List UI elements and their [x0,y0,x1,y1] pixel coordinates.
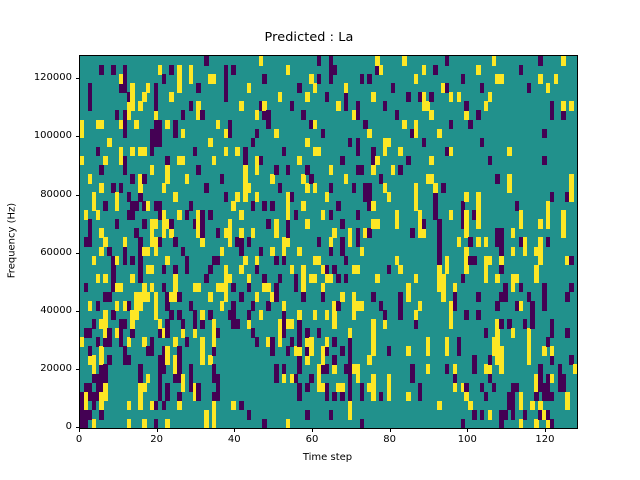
heatmap-cell [228,120,232,130]
heatmap-cell [286,346,290,356]
y-tick-label: 20000 [0,363,72,375]
heatmap-cell [367,129,371,139]
heatmap-cell [270,201,274,211]
heatmap-cell [239,237,243,247]
heatmap-cell [154,83,158,93]
heatmap-cell [313,120,317,130]
heatmap-cell [154,247,158,257]
heatmap-cell [196,392,200,402]
heatmap-cell [356,210,360,220]
heatmap-cell [379,65,383,75]
heatmap-cell [336,301,340,311]
heatmap-cell [88,174,92,184]
heatmap-cell [165,156,169,166]
heatmap-cell [224,65,228,75]
heatmap-cell [103,374,107,384]
heatmap-cell [313,183,317,193]
heatmap-cell [488,156,492,166]
heatmap-cell [297,310,301,320]
heatmap-cell [259,56,263,66]
y-tick-mark [76,195,80,196]
x-tick-label: 20 [127,434,187,445]
heatmap-cell [534,274,538,284]
heatmap-cell [503,292,507,302]
heatmap-cell [360,392,364,402]
heatmap-cell [92,256,96,266]
heatmap-cell [437,247,441,257]
heatmap-cell [464,192,468,202]
heatmap-cell [457,92,461,102]
heatmap-cell [127,401,131,411]
heatmap-cell [453,383,457,393]
heatmap-cell [107,337,111,347]
heatmap-cell [301,274,305,284]
heatmap-cell [371,92,375,102]
heatmap-cell [499,74,503,84]
heatmap-cell [243,256,247,266]
heatmap-cell [476,201,480,211]
heatmap-cell [499,256,503,266]
heatmap-cell [130,210,134,220]
heatmap-cell [177,401,181,411]
heatmap-cell [80,337,84,347]
heatmap-cell [414,129,418,139]
heatmap-cell [294,210,298,220]
heatmap-cell [449,92,453,102]
heatmap-cell [247,283,251,293]
heatmap-cell [573,364,577,374]
heatmap-cell [99,346,103,356]
heatmap-cell [472,410,476,420]
heatmap-cell [231,301,235,311]
heatmap-cell [336,274,340,284]
heatmap-cell [84,283,88,293]
heatmap-cell [130,174,134,184]
heatmap-cell [449,120,453,130]
heatmap-cell [360,247,364,257]
heatmap-cell [542,283,546,293]
heatmap-cell [158,120,162,130]
heatmap-cell [317,74,321,84]
heatmap-cell [329,237,333,247]
heatmap-cell [189,201,193,211]
heatmap-cell [185,256,189,266]
heatmap-cell [150,265,154,275]
heatmap-cell [255,265,259,275]
heatmap-cell [220,247,224,257]
heatmap-cell [499,346,503,356]
heatmap-cell [247,237,251,247]
heatmap-cell [282,247,286,257]
heatmap-cell [251,301,255,311]
heatmap-cell [492,383,496,393]
heatmap-cell [569,101,573,111]
heatmap-cell [511,247,515,257]
y-tick-mark [76,427,80,428]
heatmap-cell [383,319,387,329]
heatmap-cell [200,210,204,220]
heatmap-cell [406,292,410,302]
heatmap-cell [189,65,193,75]
heatmap-cell [398,265,402,275]
heatmap-cell [193,328,197,338]
heatmap-cell [476,310,480,320]
heatmap-cell [301,201,305,211]
heatmap-cell [193,310,197,320]
heatmap-cell [115,301,119,311]
heatmap-cell [332,65,336,75]
heatmap-cell [173,237,177,247]
heatmap-cell [550,328,554,338]
x-tick-label: 100 [437,434,497,445]
heatmap-cell [433,183,437,193]
heatmap-cell [527,355,531,365]
heatmap-cell [181,319,185,329]
heatmap-cell [231,283,235,293]
heatmap-cell [472,364,476,374]
heatmap-cell [422,219,426,229]
heatmap-cell [445,346,449,356]
heatmap-cell [554,74,558,84]
heatmap-cell [115,201,119,211]
heatmap-cell [507,147,511,157]
heatmap-cell [387,392,391,402]
heatmap-cell [538,56,542,66]
heatmap-cell [177,392,181,402]
heatmap-cell [538,74,542,84]
heatmap-cell [499,228,503,238]
heatmap-cell [371,346,375,356]
heatmap-cell [387,192,391,202]
heatmap-cell [527,328,531,338]
heatmap-cell [340,292,344,302]
heatmap-cell [445,265,449,275]
heatmap-cell [138,183,142,193]
heatmap-cell [150,337,154,347]
heatmap-cell [499,364,503,374]
heatmap-cell [216,374,220,384]
heatmap-cell [228,228,232,238]
heatmap-cell [387,265,391,275]
heatmap-cell [123,129,127,139]
heatmap-cell [340,219,344,229]
heatmap-cell [228,219,232,229]
heatmap-cell [344,101,348,111]
heatmap-cell [321,292,325,302]
heatmap-cell [274,165,278,175]
heatmap-cell [336,201,340,211]
heatmap-cell [503,410,507,420]
heatmap-cell [92,319,96,329]
heatmap-cell [371,392,375,402]
heatmap-cell [332,310,336,320]
heatmap-cell [398,301,402,311]
heatmap-cell [146,374,150,384]
heatmap-cell [165,256,169,266]
heatmap-cell [262,201,266,211]
heatmap-cell [154,292,158,302]
heatmap-cell [309,346,313,356]
heatmap-cell [162,74,166,84]
heatmap-cell-grid [80,56,577,428]
heatmap-cell [88,219,92,229]
heatmap-cell [142,147,146,157]
heatmap-cell [185,265,189,275]
y-tick-mark [76,78,80,79]
y-tick-mark [76,253,80,254]
heatmap-cell [224,292,228,302]
heatmap-cell [550,192,554,202]
heatmap-cell [216,383,220,393]
heatmap-cell [127,355,131,365]
heatmap-cell [243,147,247,157]
heatmap-cell [282,374,286,384]
heatmap-cell [255,256,259,266]
heatmap-cell [247,183,251,193]
heatmap-cell [464,101,468,111]
heatmap-cell [367,74,371,84]
heatmap-cell [317,56,321,66]
heatmap-cell [406,283,410,293]
heatmap-cell [325,346,329,356]
heatmap-cell [130,83,134,93]
heatmap-cell [387,138,391,148]
heatmap-cell [134,120,138,130]
heatmap-cell [165,165,169,175]
heatmap-cell [356,228,360,238]
heatmap-cell [495,301,499,311]
heatmap-cell [325,310,329,320]
heatmap-cell [360,419,364,429]
heatmap-cell [165,120,169,130]
heatmap-cell [239,101,243,111]
heatmap-cell [414,120,418,130]
heatmap-cell [519,210,523,220]
heatmap-cell [138,392,142,402]
heatmap-cell [519,419,523,429]
heatmap-cell [274,283,278,293]
heatmap-cell [154,219,158,229]
heatmap-cell [200,355,204,365]
heatmap-cell [115,256,119,266]
heatmap-cell [499,355,503,365]
heatmap-cell [550,101,554,111]
heatmap-cell [286,210,290,220]
heatmap-cell [395,219,399,229]
heatmap-cell [200,337,204,347]
heatmap-cell [154,301,158,311]
heatmap-cell [340,392,344,402]
heatmap-cell [196,165,200,175]
heatmap-cell [204,56,208,66]
heatmap-cell [274,256,278,266]
x-tick-label: 80 [360,434,420,445]
heatmap-cell [457,237,461,247]
heatmap-cell [185,210,189,220]
heatmap-cell [441,183,445,193]
heatmap-cell [266,120,270,130]
heatmap-cell [177,65,181,75]
heatmap-cell [511,228,515,238]
heatmap-cell [441,292,445,302]
heatmap-cell [476,292,480,302]
heatmap-cell [88,328,92,338]
heatmap-cell [212,337,216,347]
heatmap-cell [181,129,185,139]
heatmap-cell [96,147,100,157]
heatmap-cell [200,319,204,329]
heatmap-cell [441,283,445,293]
heatmap-cell [294,283,298,293]
heatmap-cell [247,83,251,93]
heatmap-cell [538,237,542,247]
heatmap-cell [519,301,523,311]
heatmap-cell [247,274,251,284]
heatmap-cell [278,274,282,284]
x-tick-mark [79,428,80,432]
heatmap-cell [317,147,321,157]
heatmap-cell [224,92,228,102]
heatmap-cell [80,120,84,130]
heatmap-cell [80,156,84,166]
heatmap-cell [317,328,321,338]
heatmap-cell [270,174,274,184]
heatmap-cell [212,156,216,166]
x-tick-label: 60 [282,434,342,445]
heatmap-cell [437,237,441,247]
heatmap-cell [286,419,290,429]
heatmap-cell [127,419,131,429]
heatmap-cell [414,74,418,84]
heatmap-cell [433,201,437,211]
heatmap-cell [181,110,185,120]
heatmap-cell [348,328,352,338]
heatmap-cell [220,301,224,311]
heatmap-cell [107,328,111,338]
heatmap-cell [208,265,212,275]
heatmap-cell [212,419,216,429]
heatmap-cell [387,374,391,384]
heatmap-cell [437,129,441,139]
heatmap-cell [519,219,523,229]
heatmap-cell [348,138,352,148]
heatmap-cell [123,156,127,166]
heatmap-cell [321,283,325,293]
heatmap-cell [527,337,531,347]
heatmap-cell [235,147,239,157]
heatmap-cell [371,165,375,175]
heatmap-cell [542,292,546,302]
heatmap-cell [208,138,212,148]
heatmap-cell [511,328,515,338]
heatmap-cell [569,283,573,293]
heatmap-cell [158,138,162,148]
heatmap-cell [429,156,433,166]
heatmap-cell [99,247,103,257]
heatmap-cell [224,147,228,157]
heatmap-cell [297,337,301,347]
heatmap-cell [99,65,103,75]
x-tick-mark [467,428,468,432]
heatmap-cell [134,201,138,211]
x-tick-mark [157,428,158,432]
heatmap-cell [266,301,270,311]
heatmap-cell [103,156,107,166]
heatmap-cell [99,120,103,130]
heatmap-cell [561,219,565,229]
heatmap-cell [127,110,131,120]
heatmap-cell [208,210,212,220]
heatmap-cell [561,56,565,66]
heatmap-cell [329,410,333,420]
heatmap-cell [550,319,554,329]
heatmap-cell [290,192,294,202]
x-tick-mark [312,428,313,432]
heatmap-cell [196,83,200,93]
heatmap-cell [464,210,468,220]
heatmap-cell [398,292,402,302]
heatmap-cell [154,101,158,111]
heatmap-cell [103,383,107,393]
heatmap-cell [488,364,492,374]
heatmap-cell [453,292,457,302]
heatmap-cell [511,283,515,293]
heatmap-cell [130,319,134,329]
heatmap-cell [503,283,507,293]
heatmap-cell [146,247,150,257]
heatmap-cell [255,292,259,302]
heatmap-cell [200,310,204,320]
heatmap-cell [158,129,162,139]
heatmap-cell [449,319,453,329]
heatmap-cell [325,92,329,102]
heatmap-cell [332,392,336,402]
heatmap-cell [130,274,134,284]
heatmap-cell [313,83,317,93]
heatmap-cell [200,228,204,238]
heatmap-cell [266,110,270,120]
heatmap-cell [468,120,472,130]
y-tick-label: 0 [0,421,72,433]
heatmap-cell [99,165,103,175]
heatmap-cell [123,74,127,84]
heatmap-cell [445,337,449,347]
heatmap-cell [127,337,131,347]
heatmap-cell [332,319,336,329]
heatmap-cell [348,337,352,347]
heatmap-cell [495,274,499,284]
heatmap-cell [453,374,457,384]
heatmap-axes [79,55,578,429]
heatmap-cell [297,247,301,257]
heatmap-cell [162,228,166,238]
heatmap-cell [196,283,200,293]
heatmap-cell [534,265,538,275]
heatmap-cell [138,101,142,111]
heatmap-cell [476,210,480,220]
heatmap-cell [84,419,88,429]
heatmap-cell [402,120,406,130]
heatmap-cell [569,183,573,193]
heatmap-cell [92,401,96,411]
heatmap-cell [123,247,127,257]
heatmap-cell [538,219,542,229]
heatmap-cell [251,138,255,148]
heatmap-cell [325,364,329,374]
heatmap-cell [305,219,309,229]
heatmap-cell [546,219,550,229]
heatmap-cell [422,228,426,238]
